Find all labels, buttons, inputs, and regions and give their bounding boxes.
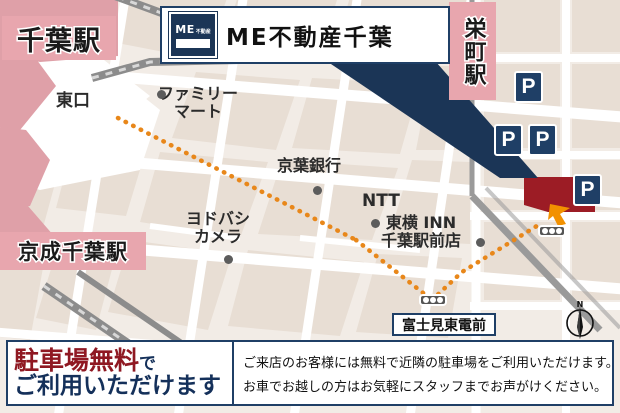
station-plate-chiba: 千葉駅 (2, 16, 116, 60)
banner-headline-highlight: 駐車場無料 (14, 346, 139, 375)
familymart-line-1: ファミリー (158, 85, 238, 103)
access-map: 千葉駅 京成千葉駅 栄町駅 ME 不動産 ME不動産千葉 東口 ファミリー マー… (0, 0, 620, 413)
parking-badge-2-label: P (501, 128, 515, 152)
company-callout: ME 不動産 ME不動産千葉 (160, 6, 450, 64)
compass-north-label: N (562, 300, 598, 309)
poi-dot-keiyo-bank (313, 186, 322, 195)
intersection-label-text: 富士見東電前 (402, 315, 486, 335)
station-plate-sakaecho: 栄町駅 (449, 2, 496, 100)
familymart-line-2: マート (158, 103, 238, 121)
parking-badge-4[interactable]: P (573, 174, 602, 206)
poi-dot-familymart (157, 90, 166, 99)
parking-badge-2[interactable]: P (494, 124, 523, 156)
station-label-keisei-chiba: 京成千葉駅 (18, 236, 128, 266)
me-logo-mark: ME 不動産 (169, 12, 217, 58)
poi-label-higashiguchi: 東口 (56, 92, 90, 111)
station-label-chiba: 千葉駅 (17, 19, 101, 58)
station-label-sakaecho: 栄町駅 (457, 17, 489, 86)
poi-label-keiyo-bank: 京葉銀行 (277, 157, 341, 175)
toyoko-line-1: 東横 INN (381, 214, 461, 232)
intersection-label-fujimi-higashidenmae: 富士見東電前 (392, 313, 496, 336)
poi-label-familymart: ファミリー マート (158, 85, 238, 120)
poi-label-yodobashi: ヨドバシ カメラ (186, 210, 250, 245)
traffic-signal-south (419, 294, 447, 306)
toyoko-line-2: 千葉駅前店 (381, 232, 461, 250)
compass-rose: N (562, 300, 598, 340)
banner-detail-line2: お車でお越しの方はお気軽にスタッフまでお声がけください。 (243, 376, 619, 395)
banner-detail: ご来店のお客様には無料で近隣の駐車場をご利用いただけます。 お車でお越しの方はお… (232, 342, 619, 404)
company-name: ME不動産千葉 (226, 18, 394, 52)
banner-headline: 駐車場無料で ご利用いただけます (8, 342, 232, 404)
poi-dot-ntt (371, 219, 380, 228)
parking-badge-4-label: P (580, 178, 594, 202)
parking-banner: 駐車場無料で ご利用いただけます ご来店のお客様には無料で近隣の駐車場をご利用い… (6, 340, 614, 406)
station-plate-keisei-chiba: 京成千葉駅 (0, 232, 146, 270)
poi-label-ntt: NTT (362, 192, 400, 211)
parking-badge-3[interactable]: P (528, 124, 557, 156)
parking-badge-3-label: P (535, 128, 549, 152)
logo-me-text: ME (175, 23, 194, 36)
logo-jp-text: 不動産 (196, 28, 211, 35)
yodobashi-line-1: ヨドバシ (186, 210, 250, 228)
poi-label-toyoko-inn: 東横 INN 千葉駅前店 (381, 214, 461, 249)
traffic-signal-north (538, 225, 566, 237)
logo-bar (176, 39, 210, 48)
parking-badge-1-label: P (521, 75, 535, 99)
parking-badge-1[interactable]: P (514, 71, 543, 103)
poi-dot-yodobashi (224, 255, 233, 264)
yodobashi-line-2: カメラ (186, 228, 250, 246)
banner-headline-line2: ご利用いただけます (14, 374, 232, 398)
banner-detail-line1: ご来店のお客様には無料で近隣の駐車場をご利用いただけます。 (243, 352, 619, 371)
poi-dot-toyoko-inn (476, 238, 485, 247)
banner-headline-suffix: で (139, 354, 156, 374)
banner-headline-line1: 駐車場無料で (14, 348, 232, 374)
